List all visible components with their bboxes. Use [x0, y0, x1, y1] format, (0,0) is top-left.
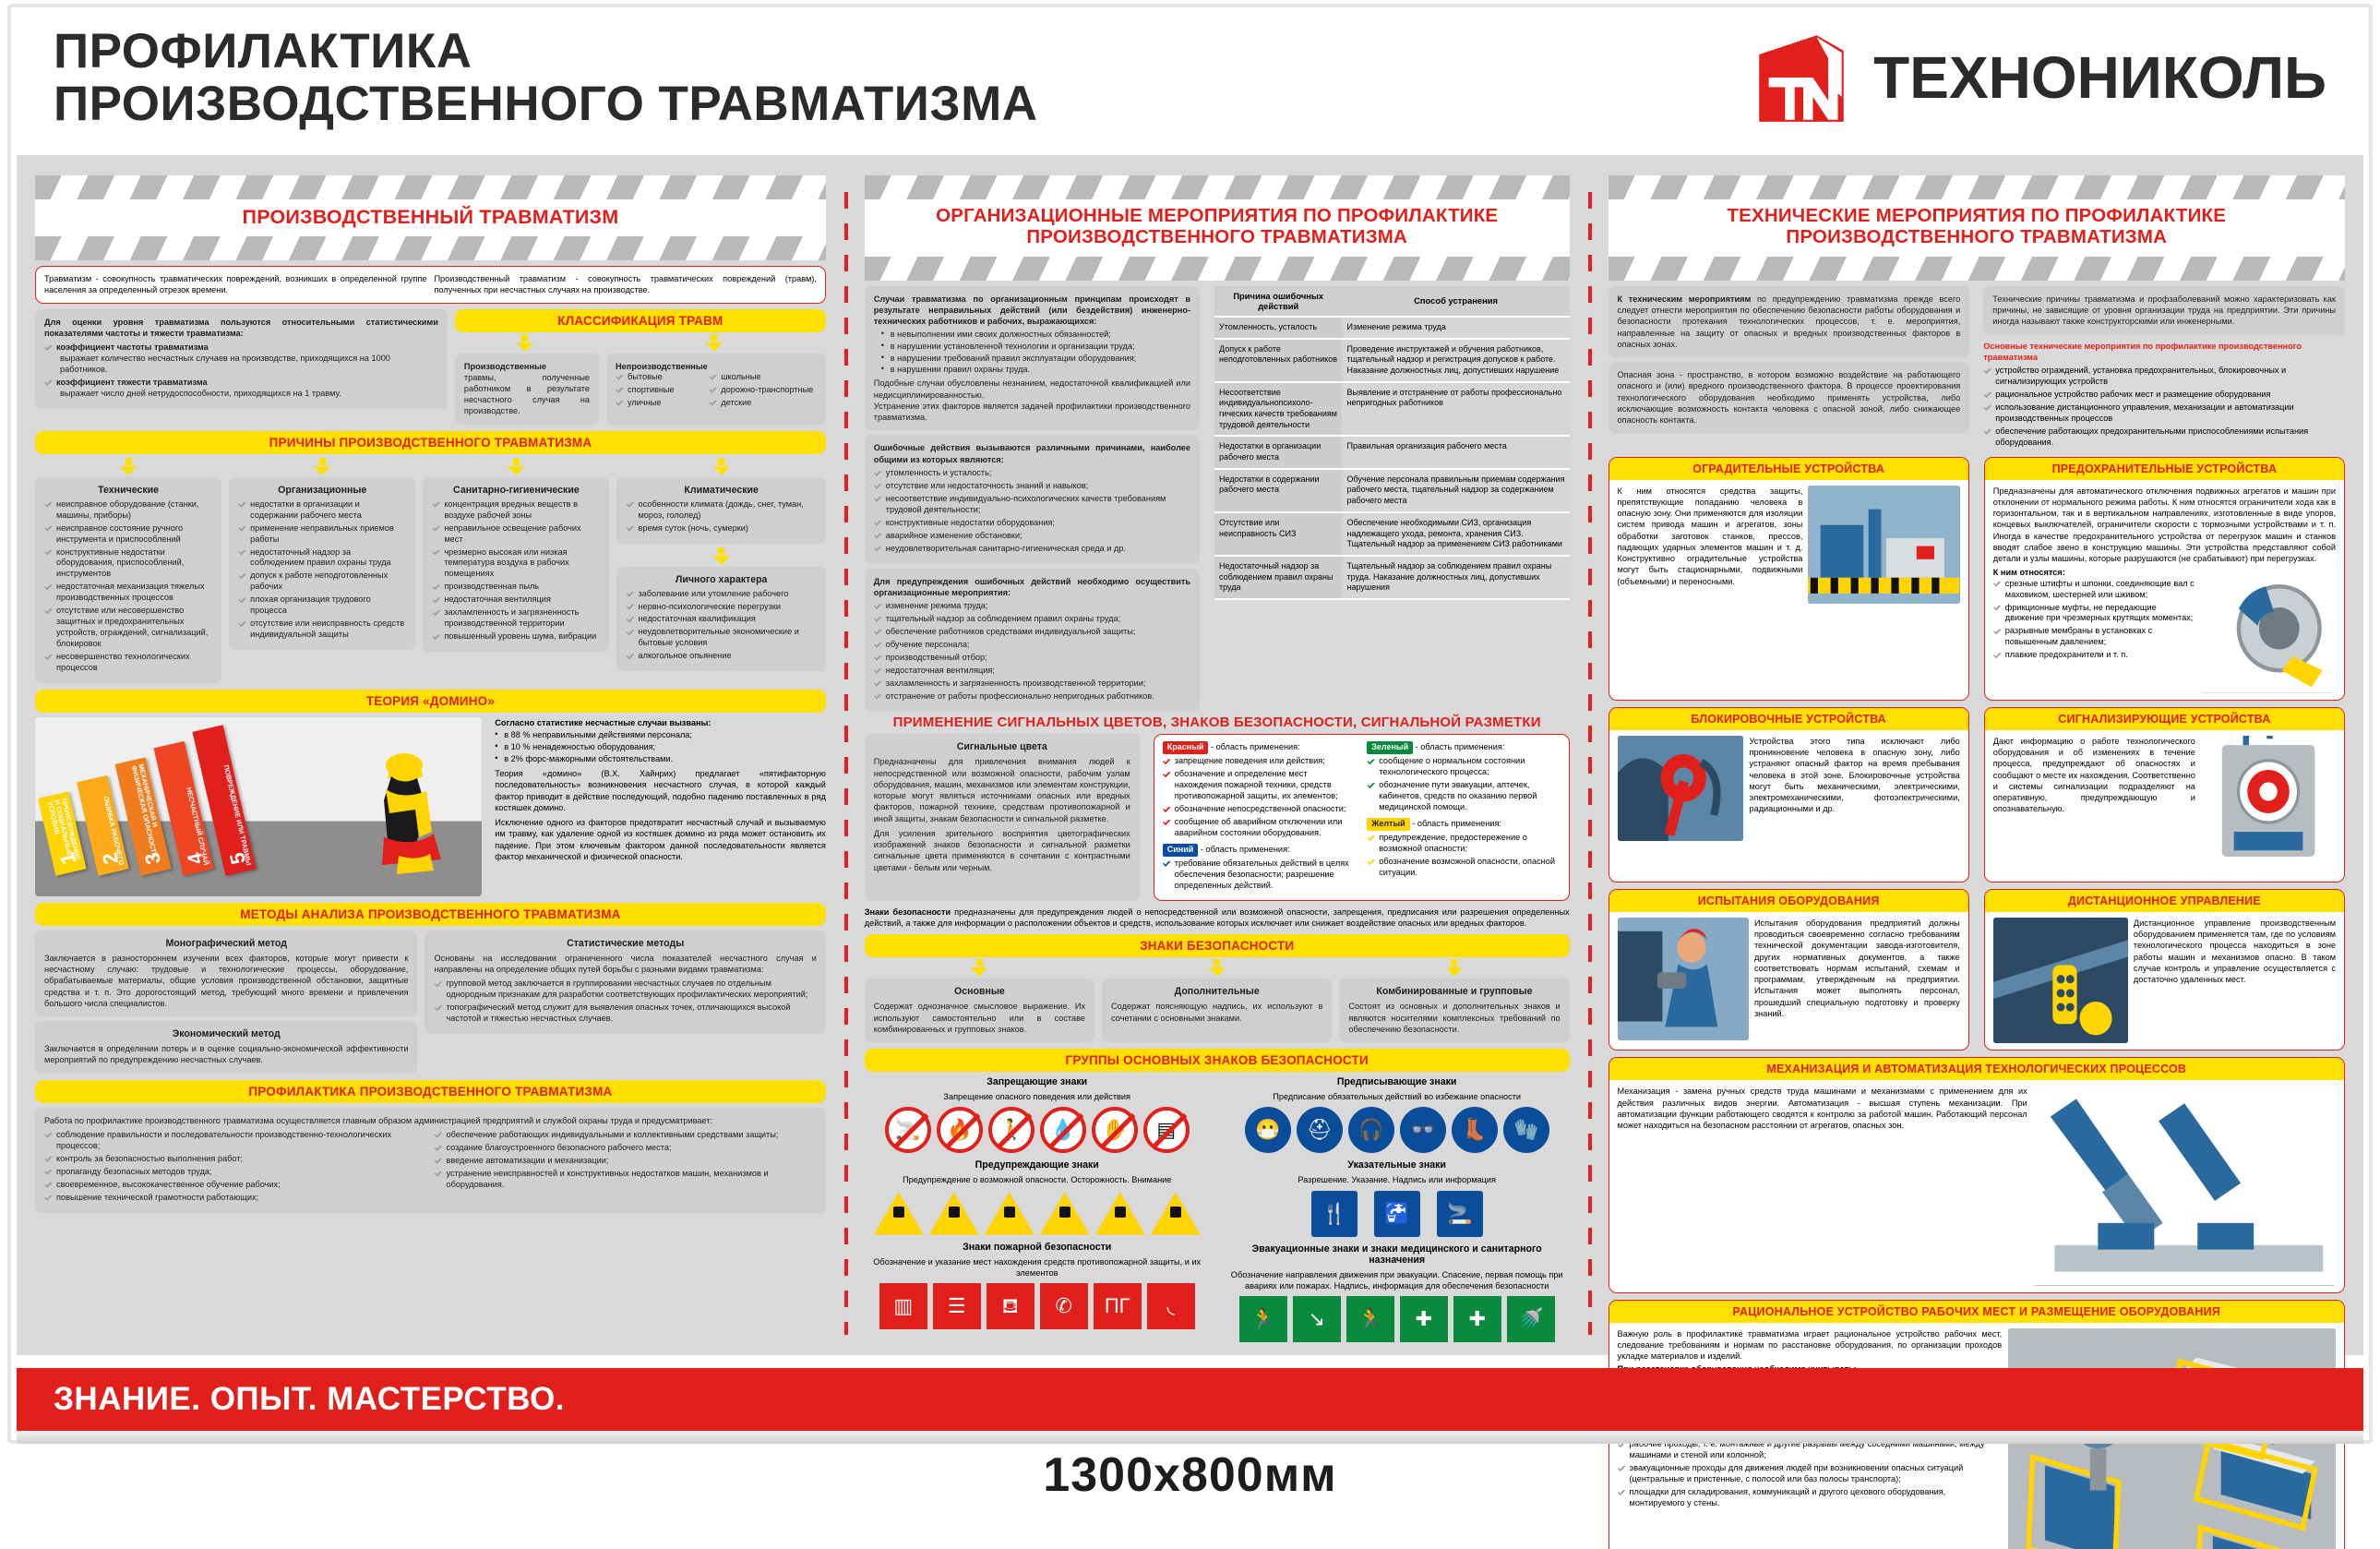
list-item: недостаточная вентиляция [432, 594, 600, 606]
title-line-2: ПРОИЗВОДСТВЕННОГО ТРАВМАТИЗМА [54, 78, 1038, 130]
hazard-stripes-top [865, 175, 1570, 199]
list-item: аварийное изменение обстановки; [874, 531, 1190, 542]
column1-heading: ПРОИЗВОДСТВЕННЫЙ ТРАВМАТИЗМ [35, 199, 826, 236]
list-item: утомленность и усталость; [874, 468, 1190, 479]
table-row: Утомленность, усталостьИзменение режима … [1214, 317, 1570, 339]
no-extinguish-water-icon: 💧 [1040, 1107, 1086, 1153]
list-item: особенности климата (дождь, снег, туман,… [626, 499, 816, 522]
robotic-arms-illustration [2033, 1086, 2336, 1285]
footer-slogan-text: ЗНАНИЕ. ОПЫТ. МАСТЕРСТВО. [54, 1381, 565, 1418]
domino-text-block: Согласно статистике несчастные случаи вы… [489, 717, 826, 862]
fire-signs-row: ▥ ☰ ⛾ ✆ ПГ ◟ [865, 1283, 1210, 1329]
signal-colors-list: Красный - область применения: запрещение… [1154, 734, 1570, 900]
list-item: требование обязательных действий в целях… [1163, 859, 1356, 892]
list-item: устройство ограждений, установка предохр… [1983, 366, 2345, 388]
list-item: повышение технической грамотности работа… [44, 1193, 426, 1204]
list-item: неправильное освещение рабочих мест [432, 523, 600, 546]
causes-remedies-table: Причина ошибочных действий Способ устран… [1214, 286, 1570, 600]
group-evacuation-subtitle: Обозначение направления движения при эва… [1225, 1269, 1570, 1291]
no-touch-icon: ✋ [1092, 1107, 1138, 1153]
list-item: отсутствие или несовершенство защитных и… [44, 606, 212, 650]
fire-hydrant-icon: ПГ [1094, 1283, 1142, 1329]
list-item: несоответствие индивидуально-психологиче… [874, 494, 1190, 516]
fire-ladder-icon: ☰ [933, 1283, 981, 1329]
list-item: недостаточная квалификация [626, 614, 816, 625]
list-item: повышенный уровень шума, вибрации [432, 631, 600, 642]
list-item: концентрация вредных веществ в воздухе р… [432, 499, 600, 522]
card-mechanization: МЕХАНИЗАЦИЯ И АВТОМАТИЗАЦИЯ ТЕХНОЛОГИЧЕС… [1609, 1057, 2346, 1292]
radioactive-icon [1095, 1191, 1145, 1235]
table-row: Несоответствие индивидуальнопсихоло-гиче… [1214, 382, 1570, 437]
brand-name: ТЕХНОНИКОЛЬ [1873, 43, 2326, 112]
column2-heading-line-1: ОРГАНИЗАЦИОННЫЕ МЕРОПРИЯТИЯ ПО ПРОФИЛАКТ… [865, 206, 1570, 227]
warning-signs-row [865, 1191, 1210, 1235]
evacuation-signs-row: 🏃 ↘ 🏃 ✚ ✚ 🚿 [1225, 1296, 1570, 1342]
sign-groups-bar: ГРУППЫ ОСНОВНЫХ ЗНАКОВ БЕЗОПАСНОСТИ [865, 1049, 1570, 1072]
safety-signs-note: Знаки безопасности предназначены для пре… [865, 907, 1570, 929]
list-item: обозначение непосредственной опасности; [1163, 804, 1356, 815]
list-item: своевременное, высококачественное обучен… [44, 1180, 426, 1191]
list-item: конструктивные недостатки оборудования; [874, 518, 1190, 529]
column-organizational-measures: ОРГАНИЗАЦИОННЫЕ МЕРОПРИЯТИЯ ПО ПРОФИЛАКТ… [852, 175, 1583, 1342]
no-open-flame-icon: 🔥 [937, 1107, 983, 1153]
flammable-icon [874, 1191, 924, 1235]
list-item: пропаганду безопасных методов труда; [44, 1167, 426, 1178]
worker-blocking-device-illustration [1618, 736, 1744, 842]
list-item: школьные [709, 372, 817, 383]
list-item: недостаточная вентиляция; [874, 666, 1190, 677]
indicators-list: коэффициент частоты травматизма выражает… [44, 342, 438, 400]
list-item: обозначение пути эвакуации, аптечек, каб… [1367, 780, 1560, 813]
table-col-cause: Причина ошибочных действий [1214, 286, 1342, 317]
classification-production: Производственные травмы, полученные рабо… [455, 354, 599, 425]
exit-door-arrow-icon: ↘ [1293, 1296, 1341, 1342]
group-warning-title: Предупреждающие знаки [865, 1159, 1210, 1171]
technical-causes-box: Технические причины травматизма и профза… [1983, 286, 2345, 335]
list-item: в невыполнении ими своих должностных обя… [881, 330, 1190, 341]
list-item: отсутствие или недостаточность знаний и … [874, 481, 1190, 492]
list-item: захламленность и загрязненность производ… [432, 607, 600, 630]
poster-header: ПРОФИЛАКТИКА ПРОИЗВОДСТВЕННОГО ТРАВМАТИЗ… [17, 9, 2363, 146]
group-fire-subtitle: Обозначение и указание мест нахождения с… [865, 1256, 1210, 1279]
list-item: групповой метод заключается в группирова… [434, 979, 816, 1001]
list-item: разрывные мембраны в установках с повыше… [1993, 626, 2195, 648]
card-blocking-devices: БЛОКИРОВОЧНЫЕ УСТРОЙСТВА [1609, 707, 1969, 883]
list-item: обеспечение работающих индивидуальными и… [434, 1130, 816, 1141]
poster-root: ПРОФИЛАКТИКА ПРОИЗВОДСТВЕННОГО ТРАВМАТИЗ… [0, 0, 2380, 1549]
list-item: обеспечение работников средствами индиви… [874, 627, 1190, 638]
list-item: применение неправильных приемов работы [238, 523, 406, 546]
list-item: детские [709, 398, 817, 409]
list-item: обозначение и определение мест нахождени… [1163, 769, 1356, 802]
org-measures-box: Для предупреждения ошибочных действий не… [865, 569, 1200, 712]
explosive-icon [929, 1191, 979, 1235]
list-item: алкогольное опьянение [626, 651, 816, 662]
method-statistical: Статистические методы Основаны на исслед… [425, 931, 825, 1034]
list-item: в нарушении установленной технологии и о… [881, 342, 1190, 353]
list-item: отстранение от работы профессионально не… [874, 691, 1190, 702]
domino-bar: ТЕОРИЯ «ДОМИНО» [35, 690, 826, 713]
fire-extinguisher-icon: ⛾ [987, 1283, 1035, 1329]
factory-machine-barrier-illustration [1808, 486, 1959, 604]
wear-respirator-icon: 😷 [1245, 1107, 1291, 1153]
card-safety-devices: ПРЕДОХРАНИТЕЛЬНЫЕ УСТРОЙСТВА Предназначе… [1984, 457, 2345, 701]
canteen-icon: 🍴 [1311, 1191, 1357, 1237]
column-technical-measures: ТЕХНИЧЕСКИЕ МЕРОПРИЯТИЯ ПО ПРОФИЛАКТИКЕ … [1596, 175, 2346, 1342]
method-economic: Экономический метод Заключается в опреде… [35, 1021, 417, 1073]
list-item: контроль за безопасностью выполнения раб… [44, 1154, 426, 1165]
sign-kind-basic: Основные Содержат однозначное смысловое … [865, 979, 1094, 1042]
remote-control-pendant-illustration [1993, 918, 2128, 1043]
classification-block: КЛАССИФИКАЦИЯ ТРАВМ Производственные тра… [455, 309, 826, 425]
table-row: Отсутствие или неисправность СИЗОбеспече… [1214, 512, 1570, 556]
list-item: плохая организация трудового процесса [238, 594, 406, 617]
list-item: в 2% форс-мажорными обстоятельствами. [495, 754, 826, 765]
org-intro-box: Случаи травматизма по организационным пр… [865, 286, 1200, 430]
mandatory-signs-row: 😷 ⛑ 🎧 👓 👢 🧤 [1225, 1107, 1570, 1153]
sign-kind-additional: Дополнительные Содержат поясняющую надпи… [1102, 979, 1332, 1042]
column3-heading-line-1: ТЕХНИЧЕСКИЕ МЕРОПРИЯТИЯ ПО ПРОФИЛАКТИКЕ [1609, 206, 2346, 227]
hazard-stripes-top [1609, 175, 2346, 199]
column-production-injuries: ПРОИЗВОДСТВЕННЫЙ ТРАВМАТИЗМ Травматизм -… [35, 175, 839, 1342]
safety-shower-icon: 🚿 [1507, 1296, 1555, 1342]
list-item: предупреждение, предостережение о возмож… [1367, 833, 1560, 855]
signal-color-green-tag: Зеленый [1367, 741, 1413, 754]
causes-group-technical: Технические неисправное оборудование (ст… [35, 458, 221, 683]
list-item: создание благоустроенного безопасного ра… [434, 1143, 816, 1154]
medical-kit-icon: ✚ [1453, 1296, 1501, 1342]
signal-colors-heading: ПРИМЕНЕНИЕ СИГНАЛЬНЫХ ЦВЕТОВ, ЗНАКОВ БЕЗ… [865, 712, 1570, 735]
indicator-item: коэффициент тяжести травматизма выражает… [44, 378, 438, 400]
table-row: Недостатки в содержании рабочего местаОб… [1214, 469, 1570, 512]
list-item: уличные [616, 398, 705, 409]
list-item: конструктивные недостатки оборудования, … [44, 547, 212, 581]
causes-group-organizational: Организационные недостатки в организации… [229, 458, 415, 650]
arrow-indicator [455, 334, 595, 354]
signal-color-blue-tag: Синий [1163, 844, 1199, 857]
list-item: несовершенство технологических процессов [44, 652, 212, 674]
list-item: срезные штифты и шпонки, соединяющие вал… [1993, 579, 2195, 601]
signal-colors-definition: Сигнальные цвета Предназначены для привл… [865, 734, 1140, 900]
indicator-item: коэффициент частоты травматизма выражает… [44, 342, 438, 376]
group-prohibiting-title: Запрещающие знаки [865, 1076, 1210, 1087]
causes-group-sanitary: Санитарно-гигиенические концентрация вре… [423, 458, 609, 652]
list-item: нервно-психологические перегрузки [626, 602, 816, 613]
list-item: обеспечение работающих предохранительным… [1983, 426, 2345, 449]
table-col-remedy: Способ устранения [1342, 286, 1569, 317]
wear-gloves-icon: 🧤 [1503, 1107, 1549, 1153]
wear-goggles-icon: 👓 [1400, 1107, 1446, 1153]
card-guard-devices: ОГРАДИТЕЛЬНЫЕ УСТРОЙСТВА К ним относятся… [1609, 457, 1969, 701]
group-warning-subtitle: Предупреждение о возможной опасности. Ос… [865, 1174, 1210, 1185]
table-header-row: Причина ошибочных действий Способ устран… [1214, 286, 1570, 317]
list-item: бытовые [616, 372, 705, 383]
hazard-stripes-bottom [1609, 257, 2346, 281]
safety-signs-bar: ЗНАКИ БЕЗОПАСНОСТИ [865, 934, 1570, 957]
list-item: запрещение поведения или действия; [1163, 756, 1356, 767]
list-item: рациональное устройство рабочих мест и р… [1983, 390, 2345, 401]
card-equipment-testing: ИСПЫТАНИЯ ОБОРУДОВАНИЯ [1609, 889, 1969, 1051]
list-item: производственный отбор; [874, 653, 1190, 664]
list-item: в 88 % неправильными действиями персонал… [495, 730, 826, 741]
kneeling-worker-illustration [347, 741, 458, 880]
group-fire-title: Знаки пожарной безопасности [865, 1242, 1210, 1253]
list-item: сообщение о нормальном состоянии техноло… [1367, 756, 1560, 778]
page-title: ПРОФИЛАКТИКА ПРОИЗВОДСТВЕННОГО ТРАВМАТИЗ… [54, 25, 1038, 130]
classification-bar: КЛАССИФИКАЦИЯ ТРАВМ [455, 309, 826, 332]
group-mandatory-title: Предписывающие знаки [1225, 1076, 1570, 1087]
list-item: недостатки в организации и содержании ра… [238, 499, 406, 522]
list-item: фрикционные муфты, не передающие движени… [1993, 603, 2195, 625]
causes-bar: ПРИЧИНЫ ПРОИЗВОДСТВЕННОГО ТРАВМАТИЗМА [35, 431, 826, 454]
no-entry-pedestrian-icon: 🚶 [988, 1107, 1035, 1153]
list-item: использование дистанционного управления,… [1983, 402, 2345, 425]
list-item: производственная пыль [432, 582, 600, 593]
list-item: неудовлетворительная санитарно-гигиениче… [874, 544, 1190, 555]
method-monographic: Монографический метод Заключается в разн… [35, 931, 417, 1016]
list-item: неисправное состояние ручного инструмент… [44, 523, 212, 546]
list-item: дорожно-транспортные [709, 385, 817, 396]
list-item: введение автоматизации и механизации; [434, 1156, 816, 1167]
column3-heading: ТЕХНИЧЕСКИЕ МЕРОПРИЯТИЯ ПО ПРОФИЛАКТИКЕ … [1609, 199, 2346, 257]
group-prohibiting-subtitle: Запрещение опасного поведения или действ… [865, 1091, 1210, 1102]
list-item: время суток (ночь, сумерки) [626, 523, 816, 534]
list-item: недостаточная механизация тяжелых произв… [44, 582, 212, 604]
footer-slogan-banner: ЗНАНИЕ. ОПЫТ. МАСТЕРСТВО. [17, 1368, 2363, 1431]
arrow-indicator [602, 334, 825, 354]
prevention-box: Работа по профилактике производственного… [35, 1108, 826, 1213]
card-remote-control: ДИСТАНЦИОННОЕ УПРАВЛЕНИЕ Дистанционн [1984, 889, 2345, 1051]
list-item: неисправное оборудование (станки, машины… [44, 499, 212, 522]
list-item: изменение режима труда; [874, 601, 1190, 612]
technical-intro-box: К техническим мероприятиям по предупрежд… [1609, 286, 1970, 357]
group-indicative-title: Указательные знаки [1225, 1159, 1570, 1171]
worker-testing-equipment-illustration [1618, 918, 1749, 1040]
brand-logo: ТЕХНОНИКОЛЬ [1753, 30, 2326, 126]
fire-alarm-icon: ◟ [1147, 1283, 1195, 1329]
sign-kind-combined: Комбинированные и групповые Состоят из о… [1339, 979, 1569, 1042]
list-item: отсутствие или неисправность средств инд… [238, 618, 406, 641]
frame-bottom-edge [17, 1431, 2363, 1444]
list-item: захламленность и загрязненность производ… [874, 678, 1190, 690]
list-item: обучение персонала; [874, 640, 1190, 651]
list-item: плавкие предохранители и т. п. [1993, 650, 2195, 661]
corrosive-icon [1040, 1191, 1090, 1235]
table-row: Допуск к работе неподготовленных работни… [1214, 339, 1570, 382]
table-row: Недостатки в организации рабочего местаП… [1214, 436, 1570, 468]
signal-gauge-panel-illustration [2201, 736, 2336, 875]
list-item: в нарушении требований правил эксплуатац… [881, 354, 1190, 365]
hazard-stripes-bottom [35, 236, 826, 260]
list-item: устранение неисправностей и конструктивн… [434, 1169, 816, 1191]
drinking-water-icon: 🚰 [1374, 1191, 1420, 1237]
exit-running-man-icon: 🏃 [1239, 1296, 1287, 1342]
list-item: чрезмерно высокая или низкая температура… [432, 547, 600, 581]
column2-heading: ОРГАНИЗАЦИОННЫЕ МЕРОПРИЯТИЯ ПО ПРОФИЛАКТ… [865, 199, 1570, 257]
definition-trauma: Травматизм - совокупность травматических… [44, 273, 426, 295]
domino-tile-1: ПРОИСХОЖДЕНИЕ И СОЦИАЛЬНЫЕ УСЛОВИЯ1 [38, 791, 86, 875]
list-item: топографический метод служит для выявлен… [434, 1003, 816, 1025]
card-signalling-devices: СИГНАЛИЗИРУЮЩИЕ УСТРОЙСТВА Дают информац… [1984, 707, 2345, 883]
column1-heading-text: ПРОИЗВОДСТВЕННЫЙ ТРАВМАТИЗМ [35, 206, 826, 228]
prohibiting-signs-row: 🚬 🔥 🚶 💧 ✋ ▤ [865, 1107, 1210, 1153]
toxic-icon [985, 1191, 1035, 1235]
poster-dimensions: 1300х800мм [0, 1447, 2380, 1503]
electrical-hazard-icon [1151, 1191, 1201, 1235]
poster-columns: ПРОИЗВОДСТВЕННЫЙ ТРАВМАТИЗМ Травматизм -… [17, 155, 2363, 1355]
methods-bar: МЕТОДЫ АНАЛИЗА ПРОИЗВОДСТВЕННОГО ТРАВМАТ… [35, 903, 826, 926]
list-item: недостаточный надзор за соблюдением прав… [238, 547, 406, 570]
list-item: допуск к работе неподготовленных рабочих [238, 570, 406, 593]
list-item: неудовлетворительные экономические и быт… [626, 627, 816, 649]
first-aid-icon: ✚ [1400, 1296, 1448, 1342]
list-item: заболевание или утомление рабочего [626, 589, 816, 600]
column-divider-1 [839, 175, 852, 1342]
no-obstruct-icon: ▤ [1143, 1107, 1190, 1153]
technical-measures-list-title: Основные технические мероприятия по проф… [1983, 341, 2345, 363]
no-smoking-icon: 🚬 [885, 1107, 931, 1153]
fire-hose-icon: ▥ [879, 1283, 927, 1329]
list-item: спортивные [616, 385, 705, 396]
definition-production-trauma: Производственный травматизм - совокупнос… [434, 273, 816, 295]
domino-illustration: ПРОИСХОЖДЕНИЕ И СОЦИАЛЬНЫЕ УСЛОВИЯ1 ОШИБ… [35, 717, 482, 896]
wear-helmet-icon: ⛑ [1297, 1107, 1343, 1153]
column-divider-2 [1583, 175, 1596, 1342]
wear-ear-protection-icon: 🎧 [1348, 1107, 1394, 1153]
indicators-intro: Для оценки уровня травматизма пользуются… [44, 317, 438, 339]
list-item: тщательный надзор за соблюдением правил … [874, 614, 1190, 625]
list-item: в нарушении правил охраны труда. [881, 365, 1190, 376]
group-indicative-subtitle: Разрешение. Указание. Надпись или информ… [1225, 1174, 1570, 1185]
org-errors-box: Ошибочные действия вызываются различными… [865, 435, 1200, 563]
indicators-box: Для оценки уровня травматизма пользуются… [35, 309, 448, 409]
list-item: соблюдение правильности и последовательн… [44, 1130, 426, 1152]
list-item: в 10 % ненадежностью оборудования; [495, 742, 826, 753]
title-line-1: ПРОФИЛАКТИКА [54, 25, 1038, 78]
smoking-area-icon: 🚬 [1437, 1191, 1483, 1237]
fire-phone-icon: ✆ [1040, 1283, 1088, 1329]
signal-color-yellow-tag: Желтый [1367, 818, 1409, 831]
causes-group-climatic-personal: Климатические особенности климата (дождь… [616, 458, 825, 672]
signal-color-red-tag: Красный [1163, 741, 1209, 754]
coupling-mechanism-illustration [2201, 567, 2336, 692]
column3-heading-line-2: ПРОИЗВОДСТВЕННОГО ТРАВМАТИЗМА [1609, 227, 2346, 248]
wear-safety-boots-icon: 👢 [1452, 1107, 1498, 1153]
list-item: сообщение об аварийном отключении или ав… [1163, 817, 1356, 839]
definitions-box: Травматизм - совокупность травматических… [35, 266, 826, 303]
group-mandatory-subtitle: Предписание обязательных действий во изб… [1225, 1091, 1570, 1102]
hazard-stripes-top [35, 175, 826, 199]
hazard-stripes-bottom [865, 257, 1570, 281]
table-row: Недостаточный надзор за соблюдением прав… [1214, 556, 1570, 599]
list-item: обозначение возможной опасности, опасной… [1367, 857, 1560, 879]
technonicol-mark-icon [1753, 30, 1849, 126]
danger-zone-box: Опасная зона - пространство, в котором в… [1609, 362, 1970, 433]
classification-nonproduction: Непроизводственные бытовые спортивные ул… [606, 354, 826, 425]
group-evacuation-title: Эвакуационные знаки и знаки медицинского… [1225, 1243, 1570, 1266]
column2-heading-line-2: ПРОИЗВОДСТВЕННОГО ТРАВМАТИЗМА [865, 227, 1570, 248]
emergency-exit-icon: 🏃 [1346, 1296, 1394, 1342]
indicative-signs-row: 🍴 🚰 🚬 [1225, 1191, 1570, 1237]
prevention-bar: ПРОФИЛАКТИКА ПРОИЗВОДСТВЕННОГО ТРАВМАТИЗ… [35, 1080, 826, 1103]
